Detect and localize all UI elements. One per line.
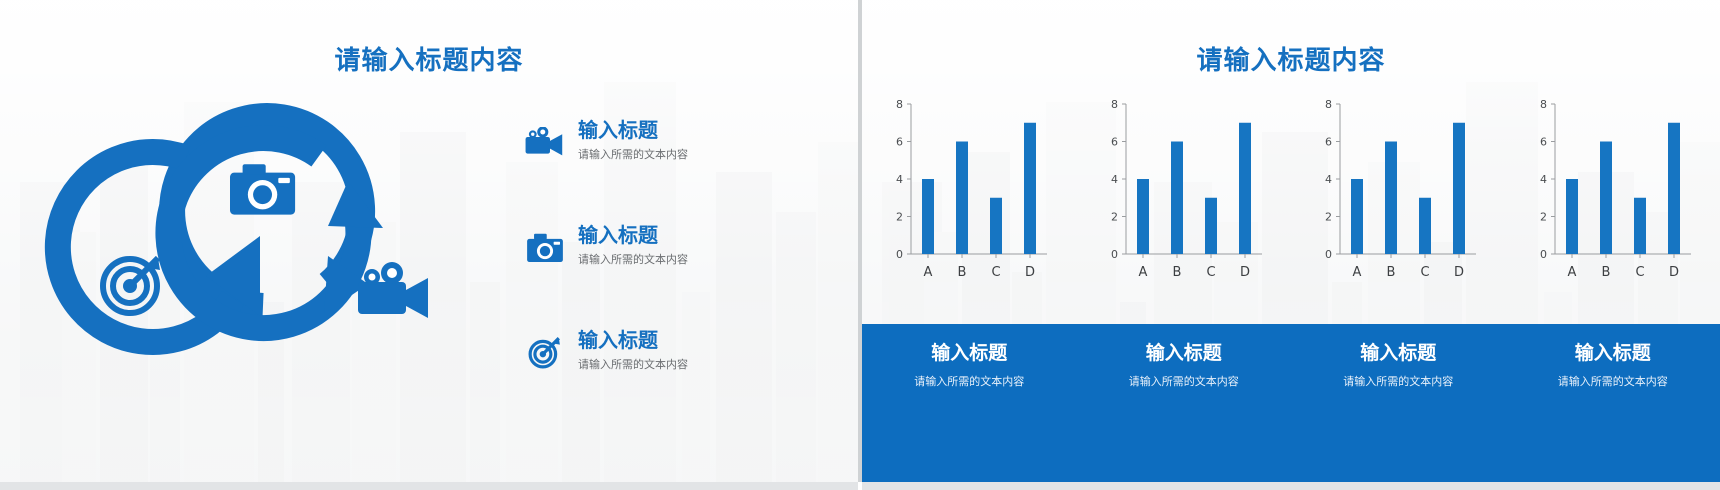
- cycle-diagram: [28, 86, 498, 426]
- svg-text:C: C: [1635, 265, 1644, 280]
- caption-column[interactable]: 输入标题 请输入所需的文本内容: [862, 324, 1077, 482]
- svg-text:8: 8: [1325, 98, 1332, 111]
- page-title-left: 请输入标题内容: [0, 40, 858, 77]
- svg-text:D: D: [1240, 265, 1250, 280]
- svg-text:2: 2: [896, 211, 903, 224]
- svg-text:0: 0: [1540, 248, 1547, 261]
- caption-sub: 请输入所需的文本内容: [862, 373, 1077, 389]
- svg-text:6: 6: [1111, 136, 1118, 149]
- caption-sub: 请输入所需的文本内容: [1077, 373, 1292, 389]
- video-camera-icon: [358, 262, 428, 318]
- svg-text:2: 2: [1111, 211, 1118, 224]
- caption-column[interactable]: 输入标题 请输入所需的文本内容: [1506, 324, 1720, 482]
- legend-item-heading: 输入标题: [578, 328, 658, 352]
- svg-text:A: A: [1353, 265, 1362, 280]
- svg-text:8: 8: [896, 98, 903, 111]
- legend-item-heading: 输入标题: [578, 118, 658, 142]
- legend-item[interactable]: 输入标题 请输入所需的文本内容: [522, 118, 822, 223]
- svg-text:4: 4: [1540, 173, 1547, 186]
- caption-column[interactable]: 输入标题 请输入所需的文本内容: [1291, 324, 1506, 482]
- svg-text:B: B: [1387, 265, 1396, 280]
- legend-item-heading: 输入标题: [578, 223, 658, 247]
- legend-list: 输入标题 请输入所需的文本内容 输入标题 请输入所需的文本内容: [522, 118, 822, 433]
- svg-text:4: 4: [1111, 173, 1118, 186]
- svg-text:6: 6: [1540, 136, 1547, 149]
- legend-item[interactable]: 输入标题 请输入所需的文本内容: [522, 223, 822, 328]
- slide-left[interactable]: 请输入标题内容: [0, 0, 858, 490]
- svg-text:6: 6: [896, 136, 903, 149]
- svg-text:B: B: [958, 265, 967, 280]
- svg-text:D: D: [1025, 265, 1035, 280]
- svg-text:0: 0: [1111, 248, 1118, 261]
- caption-heading: 输入标题: [1077, 342, 1292, 365]
- legend-item-sub: 请输入所需的文本内容: [578, 253, 688, 267]
- bar-chart: 02468ABCD: [862, 96, 1077, 296]
- svg-text:0: 0: [896, 248, 903, 261]
- svg-text:D: D: [1454, 265, 1464, 280]
- svg-text:A: A: [1567, 265, 1576, 280]
- slide-pair-canvas: 请输入标题内容: [0, 0, 1720, 490]
- svg-text:2: 2: [1540, 211, 1547, 224]
- svg-text:A: A: [1138, 265, 1147, 280]
- target-icon: [522, 330, 568, 374]
- svg-text:8: 8: [1111, 98, 1118, 111]
- slide-right[interactable]: 请输入标题内容 02468ABCD02468ABCD02468ABCD02468…: [862, 0, 1720, 490]
- svg-text:4: 4: [1325, 173, 1332, 186]
- svg-text:B: B: [1172, 265, 1181, 280]
- bar-chart-row: 02468ABCD02468ABCD02468ABCD02468ABCD: [862, 96, 1720, 296]
- video-camera-icon: [522, 120, 568, 164]
- caption-column[interactable]: 输入标题 请输入所需的文本内容: [1077, 324, 1292, 482]
- page-title-right: 请输入标题内容: [862, 40, 1720, 77]
- caption-band: 输入标题 请输入所需的文本内容 输入标题 请输入所需的文本内容 输入标题 请输入…: [862, 324, 1720, 482]
- bar-chart: 02468ABCD: [1077, 96, 1292, 296]
- target-icon: [103, 258, 160, 313]
- caption-heading: 输入标题: [1506, 342, 1720, 365]
- svg-text:C: C: [992, 265, 1001, 280]
- caption-heading: 输入标题: [862, 342, 1077, 365]
- camera-icon: [230, 164, 295, 214]
- svg-text:B: B: [1601, 265, 1610, 280]
- legend-item[interactable]: 输入标题 请输入所需的文本内容: [522, 328, 822, 433]
- camera-icon: [522, 225, 568, 269]
- svg-text:A: A: [924, 265, 933, 280]
- caption-sub: 请输入所需的文本内容: [1506, 373, 1720, 389]
- caption-sub: 请输入所需的文本内容: [1291, 373, 1506, 389]
- svg-text:2: 2: [1325, 211, 1332, 224]
- legend-item-sub: 请输入所需的文本内容: [578, 358, 688, 372]
- svg-text:D: D: [1669, 265, 1679, 280]
- svg-text:C: C: [1421, 265, 1430, 280]
- svg-text:8: 8: [1540, 98, 1547, 111]
- bar-chart: 02468ABCD: [1291, 96, 1506, 296]
- caption-heading: 输入标题: [1291, 342, 1506, 365]
- svg-text:C: C: [1206, 265, 1215, 280]
- svg-text:6: 6: [1325, 136, 1332, 149]
- svg-text:4: 4: [896, 173, 903, 186]
- bar-chart: 02468ABCD: [1506, 96, 1720, 296]
- svg-text:0: 0: [1325, 248, 1332, 261]
- legend-item-sub: 请输入所需的文本内容: [578, 148, 688, 162]
